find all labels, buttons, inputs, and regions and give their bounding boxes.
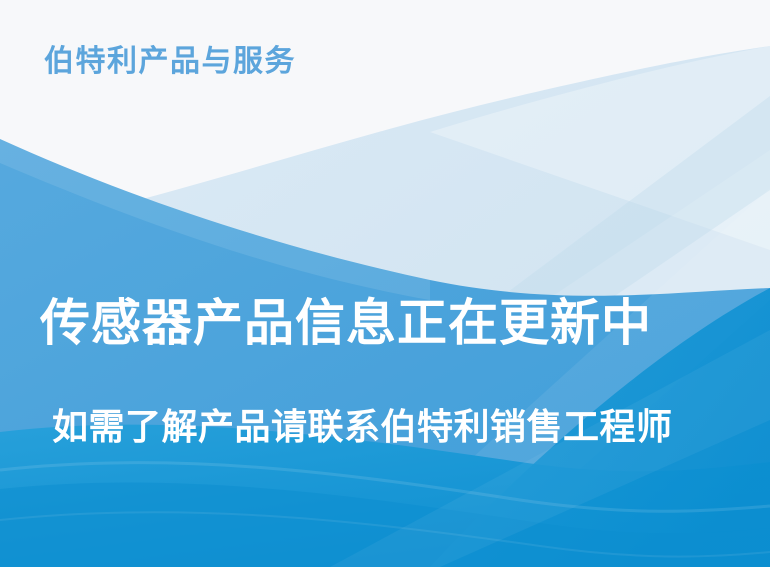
brand-heading: 伯特利产品与服务 <box>44 44 296 80</box>
subline-contact-instruction: 如需了解产品请联系伯特利销售工程师 <box>52 405 742 448</box>
banner-text-layer: 伯特利产品与服务 传感器产品信息正在更新中 如需了解产品请联系伯特利销售工程师 <box>0 0 770 567</box>
product-service-banner: 伯特利产品与服务 传感器产品信息正在更新中 如需了解产品请联系伯特利销售工程师 <box>0 0 770 567</box>
headline-notice: 传感器产品信息正在更新中 <box>40 295 730 353</box>
